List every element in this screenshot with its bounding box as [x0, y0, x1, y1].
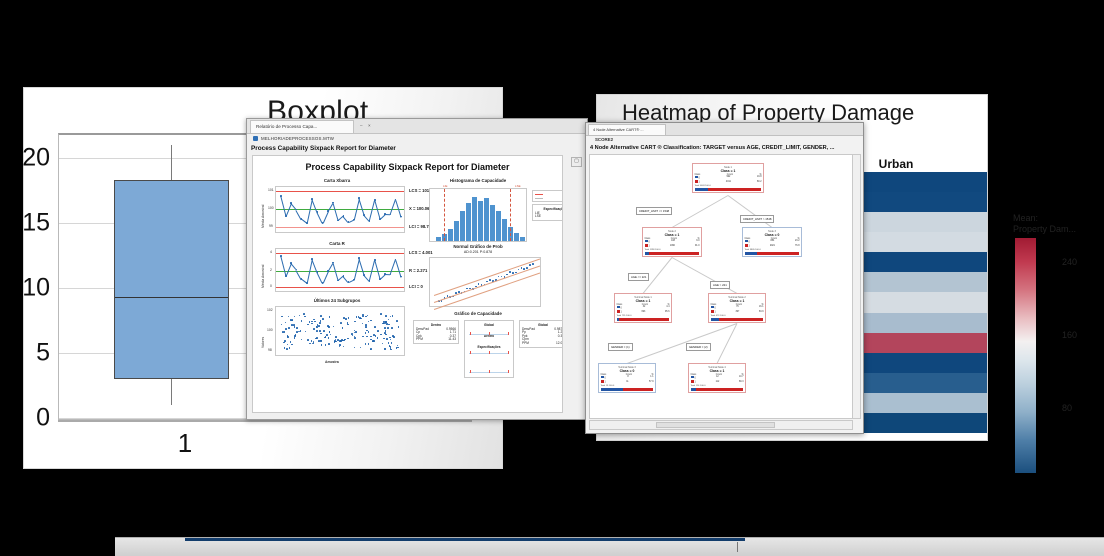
- subgroup-point: [388, 324, 390, 326]
- series-segment: [322, 271, 328, 283]
- subgroup-point: [366, 336, 368, 338]
- histogram-bar: [448, 229, 453, 241]
- cart-node-percent: 95.6: [665, 311, 669, 314]
- cart-classification-window[interactable]: 4 Node Alternative CART® ... SCORE2 4 No…: [585, 122, 864, 434]
- r-ylabel: Média Amostral: [261, 265, 265, 288]
- subgroup-point: [385, 315, 387, 317]
- r-ytick: 0: [270, 284, 272, 288]
- cart-node-percent: 1.1: [650, 376, 653, 379]
- cart-node-count: 397: [735, 311, 739, 314]
- subgroup-point: [387, 327, 389, 329]
- tree-edge: [672, 195, 728, 228]
- subgroup-point: [389, 345, 391, 347]
- cart-node-row: 169395.6: [617, 310, 670, 315]
- subgroup-point: [320, 315, 322, 317]
- subgroup-point: [360, 318, 362, 320]
- stat-key: PPM: [416, 338, 423, 342]
- subgroup-point: [342, 327, 344, 329]
- subgroup-point: [384, 327, 386, 329]
- probplot-point: [501, 276, 503, 278]
- subgroup-point: [329, 316, 331, 318]
- subgroup-point: [300, 330, 302, 332]
- subgroup-point: [385, 330, 387, 332]
- cart-node-percent: 91.0: [695, 245, 699, 248]
- probplot-point: [521, 267, 523, 269]
- text-caret: [737, 542, 738, 552]
- subgroup-point: [322, 318, 324, 320]
- cart-node-percent: 10.7: [739, 376, 743, 379]
- histogram-bar: [514, 233, 519, 241]
- stat-key: PPM: [522, 342, 529, 346]
- cart-node[interactable]: Node 1Class = 1ClassCount%099219.8140118…: [692, 163, 764, 193]
- heatmap-legend-line2: Property Dam...: [1013, 224, 1101, 235]
- subgroup-point: [316, 330, 318, 332]
- cart-node-percent: 83.9: [759, 311, 763, 314]
- cart-node-percent: 89.3: [739, 381, 743, 384]
- cart-node-total: Total 3805 100.0: [745, 249, 800, 251]
- series-segment: [286, 263, 292, 276]
- cart-split-label: GENDER = (1): [608, 343, 633, 351]
- subgroup-point: [296, 331, 298, 333]
- cart-node-total: Total 1198 100.0: [645, 249, 700, 251]
- stat-val: 11.43: [448, 338, 456, 342]
- cart-node-col-header: %: [759, 174, 761, 176]
- cart-node-col-header: %: [651, 374, 653, 376]
- subgroup-point: [291, 324, 293, 326]
- series-segment: [333, 203, 339, 221]
- subgroup-point: [313, 319, 315, 321]
- cart-node-percent: 9.0: [696, 240, 699, 243]
- cart-node-col-header: Count: [626, 374, 632, 376]
- r-ytick: 2: [270, 268, 272, 272]
- subgroup-point: [283, 342, 285, 344]
- cart-split-label: AGE <= 221: [628, 273, 649, 281]
- cart-node-class-key: 1: [711, 310, 716, 315]
- heatmap-legend-tick: 240: [1062, 257, 1077, 267]
- cart-node[interactable]: Terminal Node 2Class = 1ClassCount%07616…: [708, 293, 766, 323]
- r-ucl-line: [276, 253, 404, 254]
- series-segment: [281, 256, 287, 276]
- subgroups-ytick: 98: [268, 348, 272, 352]
- cart-node-count: 12: [716, 376, 719, 379]
- subgroup-point: [382, 343, 384, 345]
- cart-node-total: Total 473 100.0: [711, 315, 764, 317]
- boxplot-box: [114, 180, 229, 379]
- cart-node-col-header: %: [741, 374, 743, 376]
- subgroup-point: [354, 337, 356, 339]
- subgroup-point: [320, 333, 322, 335]
- worksheet-icon: [253, 136, 258, 141]
- histogram-bar: [478, 201, 483, 241]
- subgroup-point: [343, 346, 345, 348]
- probplot-point: [529, 264, 531, 266]
- boxplot-ytick: 5: [36, 339, 50, 368]
- subgroup-point: [365, 332, 367, 334]
- subgroup-point: [328, 343, 330, 345]
- subgroup-point: [287, 344, 289, 346]
- subgroup-point: [309, 321, 311, 323]
- r-chart-title: Carta R: [267, 241, 407, 246]
- cart-vertical-scrollbar[interactable]: [852, 154, 861, 419]
- series-segment: [307, 199, 313, 223]
- subgroup-point: [323, 330, 325, 332]
- heatmap-column-header: Urban: [879, 157, 914, 171]
- subgroup-point: [335, 341, 337, 343]
- subgroup-point: [339, 344, 341, 346]
- cart-split-label: GENDER = (2): [686, 343, 711, 351]
- subgroup-point: [352, 335, 354, 337]
- subgroup-point: [386, 323, 388, 325]
- subgroup-point: [383, 338, 385, 340]
- cart-node-bar: [691, 388, 744, 391]
- subgroup-point: [377, 330, 379, 332]
- subgroup-point: [392, 335, 394, 337]
- probplot-point: [489, 279, 491, 281]
- cart-node-row: 1109091.0: [645, 244, 700, 249]
- histogram-chart: [429, 188, 527, 242]
- probplot-point: [532, 263, 534, 265]
- xbar-ytick: 100: [268, 206, 274, 210]
- subgroup-point: [347, 324, 349, 326]
- cart-node-count: 11: [626, 381, 628, 384]
- subgroup-point: [398, 326, 400, 328]
- cart-node-class-key: 1: [601, 380, 606, 385]
- cart-node[interactable]: Node 3Class = 0ClassCount%088423.2129217…: [742, 227, 802, 257]
- cart-node-class: Class = 1: [617, 299, 670, 303]
- sheet-scroll-button[interactable]: ▢: [571, 157, 582, 167]
- subgroup-point: [340, 322, 342, 324]
- cart-node-col-header: Count: [771, 238, 777, 240]
- capplot-row-spec: Especificações: [467, 345, 511, 349]
- capability-tab-strip: Relatório de Processo Capa... – ×: [247, 119, 587, 134]
- r-chart: [275, 248, 405, 292]
- probplot-point: [506, 274, 508, 276]
- subgroup-point: [333, 326, 335, 328]
- subgroup-point: [385, 334, 387, 336]
- cart-node-row: 139783.9: [711, 310, 764, 315]
- cart-tab-strip: 4 Node Alternative CART® ...: [586, 123, 863, 136]
- cart-node-percent: 19.8: [757, 176, 761, 179]
- subgroup-point: [294, 326, 296, 328]
- subgroup-point: [354, 347, 356, 349]
- subgroup-point: [291, 344, 293, 346]
- cart-node-class: Class = 0: [601, 369, 654, 373]
- subgroup-point: [307, 339, 309, 341]
- subgroup-point: [380, 313, 382, 315]
- cart-node-class-key: 1: [695, 180, 700, 185]
- probplot-point: [478, 283, 480, 285]
- stats-global-title: Global: [522, 323, 563, 327]
- stats-global-table: Global DesvPad0.9873 Pp1.28 Ppk0.36 Cpm*…: [519, 320, 563, 348]
- cart-node-count: 32: [643, 306, 646, 309]
- subgroup-point: [370, 320, 372, 322]
- series-segment: [395, 260, 401, 277]
- subgroups-chart: [275, 306, 405, 356]
- heatmap-legend-tick: 80: [1062, 403, 1072, 413]
- cart-score-label: SCORE2: [595, 137, 613, 142]
- subgroup-point: [377, 337, 379, 339]
- cart-node-percent: 57.9: [649, 381, 653, 384]
- subgroup-point: [388, 319, 390, 321]
- r-lcl-label: LCI = 0: [409, 284, 423, 289]
- subgroup-point: [294, 316, 296, 318]
- subgroup-point: [372, 340, 374, 342]
- cart-node-col-header: %: [697, 238, 699, 240]
- subgroup-point: [328, 326, 330, 328]
- cart-node-count: 108: [671, 240, 675, 243]
- r-lcl-line: [276, 287, 404, 288]
- cart-node-class: Class = 1: [711, 299, 764, 303]
- xbar-ytick: 101: [268, 188, 274, 192]
- series-segment: [380, 274, 386, 279]
- stat-val: 0.36: [558, 335, 563, 339]
- subgroup-point: [389, 337, 391, 339]
- cart-node-col-header: %: [761, 304, 763, 306]
- boxplot-median-line: [115, 297, 228, 298]
- r-ytick: 4: [270, 250, 272, 254]
- cart-node-total: Total 19 100.0: [601, 385, 654, 387]
- cart-node[interactable]: Node 2Class = 1ClassCount%01089.01109091…: [642, 227, 702, 257]
- subgroup-point: [285, 328, 287, 330]
- heatmap-colorbar: 240 160 80: [1015, 238, 1036, 473]
- cart-node-row: 1401180.2: [695, 180, 762, 185]
- subgroup-point: [318, 325, 320, 327]
- subgroup-point: [345, 318, 347, 320]
- subgroup-point: [320, 320, 322, 322]
- cart-split-label: CREDIT_LIMIT > 1548: [740, 215, 774, 223]
- subgroup-point: [328, 337, 330, 339]
- subgroup-point: [344, 339, 346, 341]
- subgroup-point: [397, 347, 399, 349]
- subgroup-point: [356, 316, 358, 318]
- subgroup-point: [314, 321, 316, 323]
- spec-table-title: Especificações: [535, 207, 563, 211]
- subgroup-point: [383, 321, 385, 323]
- subgroup-point: [367, 315, 369, 317]
- series-segment: [380, 214, 386, 219]
- subgroup-point: [368, 321, 370, 323]
- subgroup-point: [284, 331, 286, 333]
- subgroup-point: [301, 339, 303, 341]
- cart-node-row: 11157.9: [601, 380, 654, 385]
- subgroup-point: [285, 322, 287, 324]
- subgroup-point: [284, 340, 286, 342]
- histogram-usl-label: LSE: [515, 184, 521, 188]
- subgroup-point: [390, 339, 392, 341]
- xbar-chart: [275, 186, 405, 233]
- subgroup-point: [339, 346, 341, 348]
- histogram-bar: [490, 205, 495, 241]
- cart-horizontal-scrollbar[interactable]: [589, 420, 853, 430]
- subgroup-point: [319, 322, 321, 324]
- subgroup-point: [320, 340, 322, 342]
- series-segment: [296, 210, 302, 220]
- subgroup-point: [370, 336, 372, 338]
- subgroup-point: [324, 337, 326, 339]
- subgroup-point: [339, 340, 341, 342]
- subgroup-point: [286, 348, 288, 350]
- cart-node[interactable]: Terminal Node 4Class = 1ClassCount%01210…: [688, 363, 746, 393]
- capability-sheet-title: Process Capability Sixpack Report for Di…: [253, 162, 562, 172]
- cart-node-col-header: %: [797, 238, 799, 240]
- capability-file-row: MELHORIADEPROCESSOS.MTW: [253, 136, 334, 141]
- series-segment: [359, 198, 365, 215]
- probplot-point: [486, 281, 488, 283]
- cart-node-col-header: Count: [716, 374, 722, 376]
- cart-node[interactable]: Terminal Node 1Class = 1ClassCount%0324.…: [614, 293, 672, 323]
- boxplot-ytick: 10: [22, 274, 50, 303]
- cart-node-class-key: 1: [745, 244, 750, 249]
- cart-node-row: 1292176.8: [745, 244, 800, 249]
- cart-node-col-header: Count: [642, 304, 648, 306]
- subgroup-point: [305, 331, 307, 333]
- minimize-icon[interactable]: –: [360, 123, 363, 128]
- subgroup-point: [392, 315, 394, 317]
- r-center-label: R = 2.271: [409, 268, 427, 273]
- cart-node-class-key: 1: [617, 310, 622, 315]
- subgroup-point: [281, 324, 283, 326]
- boxplot-upper-whisker: [171, 145, 172, 180]
- boxplot-xtick-label: 1: [178, 428, 192, 459]
- capability-legend: Global Dentro: [532, 190, 563, 202]
- histogram-bar: [460, 211, 465, 241]
- cart-node-class: Class = 1: [645, 233, 700, 237]
- tab-cart-classification[interactable]: 4 Node Alternative CART® ...: [588, 124, 666, 135]
- taskbar-accent: [185, 538, 745, 541]
- heatmap-legend: Mean: Property Dam...: [1013, 213, 1101, 235]
- cart-node[interactable]: Terminal Node 3Class = 0ClassCount%081.1…: [598, 363, 656, 393]
- subgroup-point: [284, 347, 286, 349]
- subgroup-point: [365, 326, 367, 328]
- subgroup-point: [316, 326, 318, 328]
- subgroup-point: [391, 342, 393, 344]
- capability-plot-title: Gráfico de Capacidade: [423, 311, 533, 316]
- scrollbar-thumb[interactable]: [656, 422, 776, 428]
- xbar-ylabel: Média Amostral: [261, 205, 265, 228]
- capplot-row-global: Global: [467, 323, 511, 327]
- probplot-point: [441, 300, 443, 302]
- subgroup-point: [365, 343, 367, 345]
- histogram-bar: [520, 237, 525, 241]
- subgroup-point: [309, 343, 311, 345]
- cart-node-total: Total 124 100.0: [691, 385, 744, 387]
- heatmap-legend-tick: 160: [1062, 330, 1077, 340]
- spec-limit-line: [444, 189, 446, 241]
- tab-capability-report[interactable]: Relatório de Processo Capa...: [250, 120, 354, 133]
- subgroup-point: [374, 326, 376, 328]
- subgroup-point: [335, 336, 337, 338]
- spec-limit-line: [510, 189, 512, 241]
- series-segment: [317, 272, 323, 283]
- subgroup-point: [289, 347, 291, 349]
- series-segment: [354, 258, 360, 280]
- subgroup-point: [287, 336, 289, 338]
- subgroup-point: [383, 322, 385, 324]
- subgroup-point: [343, 317, 345, 319]
- histogram-bar: [484, 198, 489, 241]
- cart-node-count: 1090: [670, 245, 675, 248]
- probplot-point: [512, 272, 514, 274]
- subgroup-point: [281, 316, 283, 318]
- cart-node-bar: [601, 388, 654, 391]
- subgroup-point: [291, 319, 293, 321]
- subgroup-point: [388, 342, 390, 344]
- cart-node-bar: [645, 252, 700, 255]
- cart-node-total: Total 5003 100.0: [695, 185, 762, 187]
- tree-edge: [627, 323, 737, 364]
- histogram-lsl-label: LIE: [443, 184, 448, 188]
- subgroup-point: [299, 315, 301, 317]
- histogram-bar: [454, 221, 459, 241]
- boxplot-ytick: 20: [22, 144, 50, 173]
- histogram-bar: [466, 203, 471, 241]
- subgroup-point: [347, 338, 349, 340]
- cart-node-col-header: Count: [727, 174, 733, 176]
- xbar-chart-title: Carta Xbarra: [267, 178, 407, 183]
- capability-file-name: MELHORIADEPROCESSOS.MTW: [261, 136, 334, 141]
- capability-report-window[interactable]: Relatório de Processo Capa... – × MELHOR…: [246, 118, 588, 420]
- subgroup-point: [303, 313, 305, 315]
- probplot-point: [518, 269, 520, 271]
- cart-node-bar: [745, 252, 800, 255]
- subgroup-point: [307, 324, 309, 326]
- probplot-point: [509, 271, 511, 273]
- xbar-ytick: 99: [269, 224, 273, 228]
- stats-within-title: Dentro: [416, 323, 456, 327]
- subgroup-point: [330, 334, 332, 336]
- cart-node-bar: [617, 318, 670, 321]
- cart-node-count: 76: [736, 306, 739, 309]
- boxplot-ytick: 0: [36, 404, 50, 433]
- capability-heading: Process Capability Sixpack Report for Di…: [251, 145, 396, 152]
- subgroup-point: [386, 338, 388, 340]
- cart-node-percent: 23.2: [795, 240, 799, 243]
- capability-sheet: Process Capability Sixpack Report for Di…: [252, 155, 563, 413]
- cart-node-total: Total 725 100.0: [617, 315, 670, 317]
- cart-node-class: Class = 1: [695, 169, 762, 173]
- series-segment: [359, 258, 365, 275]
- cart-tree-canvas: Node 1Class = 1ClassCount%099219.8140118…: [589, 154, 853, 419]
- probplot-fit-line: [434, 273, 540, 310]
- capability-plot-box: Global Dentro Especificações: [464, 320, 514, 378]
- spec-table: Especificações LIE94 LSE106: [532, 204, 563, 221]
- subgroup-point: [368, 343, 370, 345]
- subgroup-point: [329, 331, 331, 333]
- cart-node-class: Class = 1: [691, 369, 744, 373]
- subgroup-point: [365, 324, 367, 326]
- cart-split-label: CREDIT_LIMIT <= 1548: [636, 207, 672, 215]
- cart-split-label: AGE > 221: [710, 281, 730, 289]
- series-segment: [317, 212, 323, 223]
- cart-node-count: 884: [770, 240, 774, 243]
- subgroups-ylabel: Valores: [261, 337, 265, 348]
- subgroup-point: [375, 335, 377, 337]
- subgroup-point: [313, 328, 315, 330]
- close-icon[interactable]: ×: [368, 123, 371, 128]
- series-segment: [322, 211, 328, 223]
- subgroup-point: [362, 314, 364, 316]
- subgroup-point: [325, 344, 327, 346]
- subgroup-point: [362, 323, 364, 325]
- boxplot-x-axis: [58, 420, 472, 422]
- subgroups-ytick: 102: [267, 308, 273, 312]
- boxplot-lower-whisker: [171, 379, 172, 405]
- cart-node-col-header: Count: [671, 238, 677, 240]
- cart-node-percent: 16.1: [759, 306, 763, 309]
- subgroup-point: [321, 344, 323, 346]
- subgroup-point: [355, 331, 357, 333]
- subgroup-point: [296, 327, 298, 329]
